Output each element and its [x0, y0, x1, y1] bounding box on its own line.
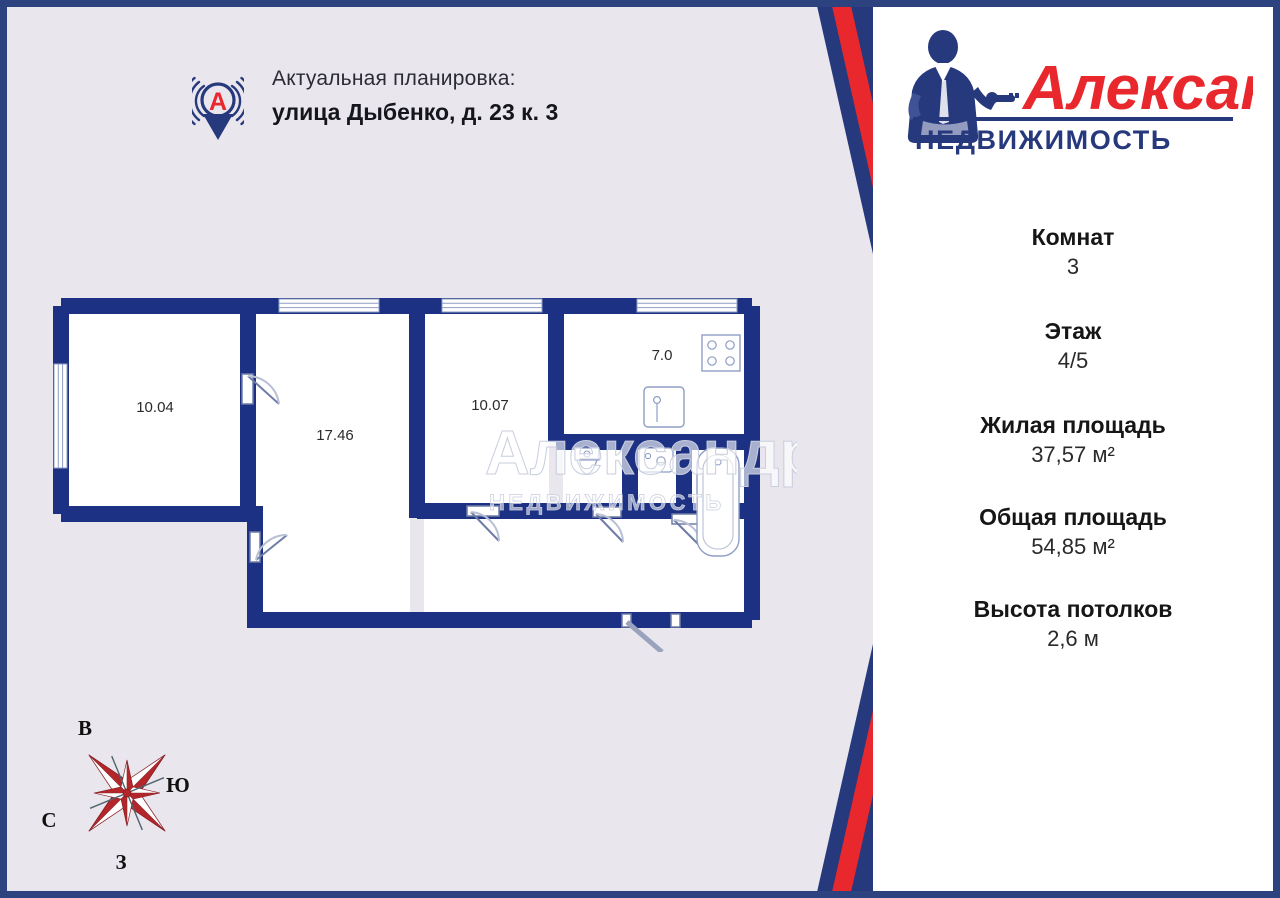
brand-logo: Александр НЕДВИЖИМОСТЬ	[893, 25, 1253, 170]
spec-label-rooms: Комнат	[873, 222, 1273, 252]
brand-name: Александр	[1021, 54, 1253, 123]
spec-label-ceiling-height: Высота потолков	[873, 594, 1273, 624]
bathroom-sink-icon	[639, 448, 673, 472]
spec-label-total-area: Общая площадь	[873, 502, 1273, 532]
spec-value-total-area: 54,85 м²	[873, 532, 1273, 562]
map-pin-icon: A	[192, 70, 244, 142]
plan-header: A Актуальная планировка: улица Дыбенко, …	[192, 65, 712, 147]
spec-value-rooms: 3	[873, 252, 1273, 282]
plan-caption: Актуальная планировка:	[272, 65, 712, 93]
window-top-2	[442, 299, 542, 312]
room-area-left: 10.04	[136, 399, 174, 416]
floor-plan-pane: A Актуальная планировка: улица Дыбенко, …	[7, 7, 867, 891]
spec-label-floor: Этаж	[873, 316, 1273, 346]
header-text-block: Актуальная планировка: улица Дыбенко, д.…	[272, 65, 712, 127]
spec-label-living-area: Жилая площадь	[873, 410, 1273, 440]
compass-label-s: С	[41, 808, 56, 832]
image-frame: A Актуальная планировка: улица Дыбенко, …	[0, 0, 1280, 898]
compass-label-yu: Ю	[166, 773, 190, 797]
room-area-middle: 10.07	[471, 397, 509, 414]
window-left	[54, 364, 67, 468]
plan-address: улица Дыбенко, д. 23 к. 3	[272, 97, 712, 127]
info-pane: Александр НЕДВИЖИМОСТЬ Комнат 3 Этаж 4/5…	[873, 7, 1273, 891]
bathtub-icon	[697, 448, 739, 556]
spec-value-floor: 4/5	[873, 346, 1273, 376]
spec-value-ceiling-height: 2,6 м	[873, 624, 1273, 654]
stove-icon	[702, 335, 740, 371]
spec-value-living-area: 37,57 м²	[873, 440, 1273, 470]
kitchen-sink-icon	[644, 387, 684, 427]
compass-label-z: З	[115, 850, 126, 874]
room-area-living: 17.46	[316, 427, 354, 444]
window-top-3	[637, 299, 737, 312]
svg-text:A: A	[209, 88, 227, 116]
compass-rose: В Ю З С	[35, 707, 210, 875]
brand-subtitle: НЕДВИЖИМОСТЬ	[915, 125, 1172, 155]
property-specs: Комнат 3 Этаж 4/5 Жилая площадь 37,57 м²…	[873, 222, 1273, 654]
compass-label-v: В	[78, 716, 92, 740]
floor-plan-drawing: 10.04 17.46 10.07 7.0	[47, 292, 837, 652]
window-top-1	[279, 299, 379, 312]
room-area-kitchen: 7.0	[652, 347, 673, 364]
